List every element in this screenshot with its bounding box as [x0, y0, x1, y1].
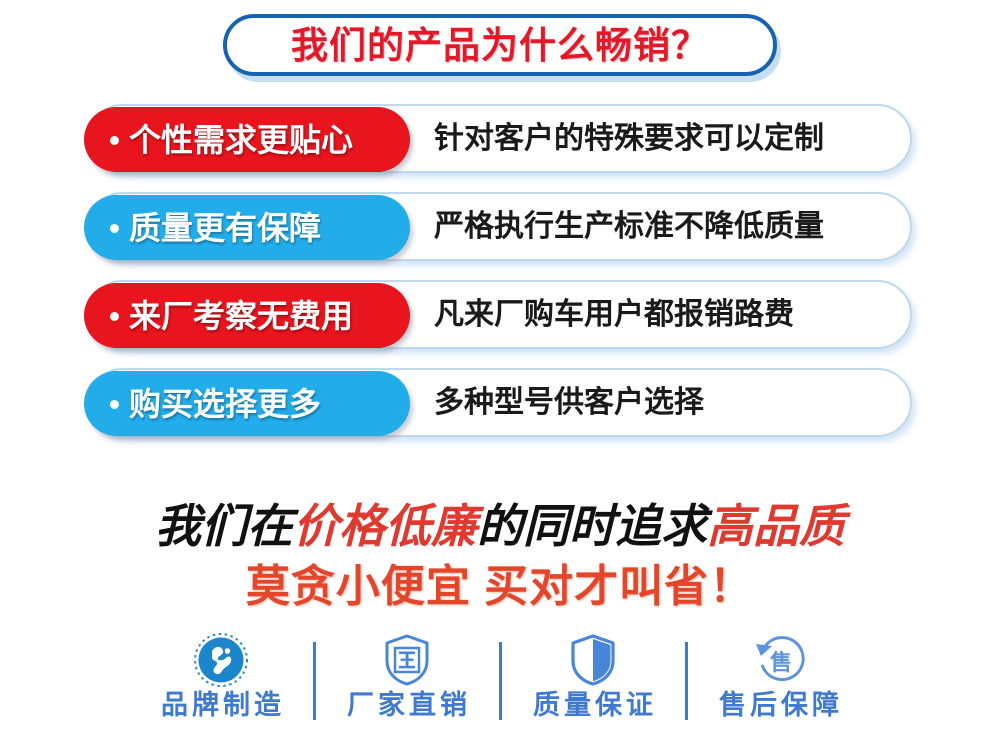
bullet-dot-icon	[110, 136, 119, 145]
badge-brand-manufacturing: 品牌制造	[134, 628, 309, 746]
feature-description: 多种型号供客户选择	[434, 388, 704, 418]
feature-row: 质量更有保障 严格执行生产标准不降低质量	[88, 192, 912, 261]
feature-pill-3: 来厂考察无费用	[84, 283, 410, 348]
feature-description: 凡来厂购车用户都报销路费	[434, 300, 794, 330]
svg-text:售: 售	[770, 650, 792, 675]
feature-row: 来厂考察无费用 凡来厂购车用户都报销路费	[88, 280, 912, 349]
tagline-primary: 我们在价格低廉的同时追求高品质	[0, 500, 1000, 553]
badge-label: 厂家直销	[343, 692, 471, 719]
feature-pill-label: 个性需求更贴心	[129, 124, 353, 156]
badge-quality-guarantee: 质量保证	[506, 628, 681, 746]
feature-list: 个性需求更贴心 针对客户的特殊要求可以定制 质量更有保障 严格执行生产标准不降低…	[0, 104, 1000, 456]
page-title-pill: 我们的产品为什么畅销？	[223, 14, 777, 76]
feature-description: 针对客户的特殊要求可以定制	[434, 124, 824, 154]
feature-row: 个性需求更贴心 针对客户的特殊要求可以定制	[88, 104, 912, 173]
tagline-part-1: 我们在	[155, 500, 293, 552]
shield-zheng-icon	[381, 628, 433, 692]
feature-pill-label: 购买选择更多	[129, 388, 321, 420]
globe-brand-icon	[192, 628, 250, 692]
feature-description: 严格执行生产标准不降低质量	[434, 212, 824, 242]
bullet-dot-icon	[110, 224, 119, 233]
badge-label: 质量保证	[529, 692, 657, 719]
tagline-secondary: 莫贪小便宜 买对才叫省！	[0, 562, 1000, 613]
badge-separator	[313, 642, 316, 720]
feature-pill-1: 个性需求更贴心	[84, 107, 410, 172]
badge-label: 品牌制造	[157, 692, 285, 719]
badge-separator	[685, 642, 688, 720]
feature-pill-2: 质量更有保障	[84, 195, 410, 260]
feature-pill-label: 质量更有保障	[129, 212, 321, 244]
bullet-dot-icon	[110, 400, 119, 409]
bullet-dot-icon	[110, 312, 119, 321]
tagline-highlight-2: 高品质	[707, 500, 845, 552]
trust-badge-bar: 品牌制造 厂家直销 质量保	[0, 628, 1000, 746]
badge-separator	[499, 642, 502, 720]
feature-row: 购买选择更多 多种型号供客户选择	[88, 368, 912, 437]
tagline-highlight-1: 价格低廉	[293, 500, 477, 552]
shield-check-icon	[567, 628, 619, 692]
feature-pill-4: 购买选择更多	[84, 371, 410, 436]
feature-pill-label: 来厂考察无费用	[129, 300, 353, 332]
badge-label: 售后保障	[715, 692, 843, 719]
badge-factory-direct: 厂家直销	[320, 628, 495, 746]
badge-after-sales: 售 售后保障	[692, 628, 867, 746]
tagline-part-2: 的同时追求	[477, 500, 707, 552]
page-title: 我们的产品为什么畅销？	[291, 27, 709, 64]
after-sales-refresh-icon: 售	[750, 628, 808, 692]
header-banner: 我们的产品为什么畅销？	[0, 8, 1000, 82]
